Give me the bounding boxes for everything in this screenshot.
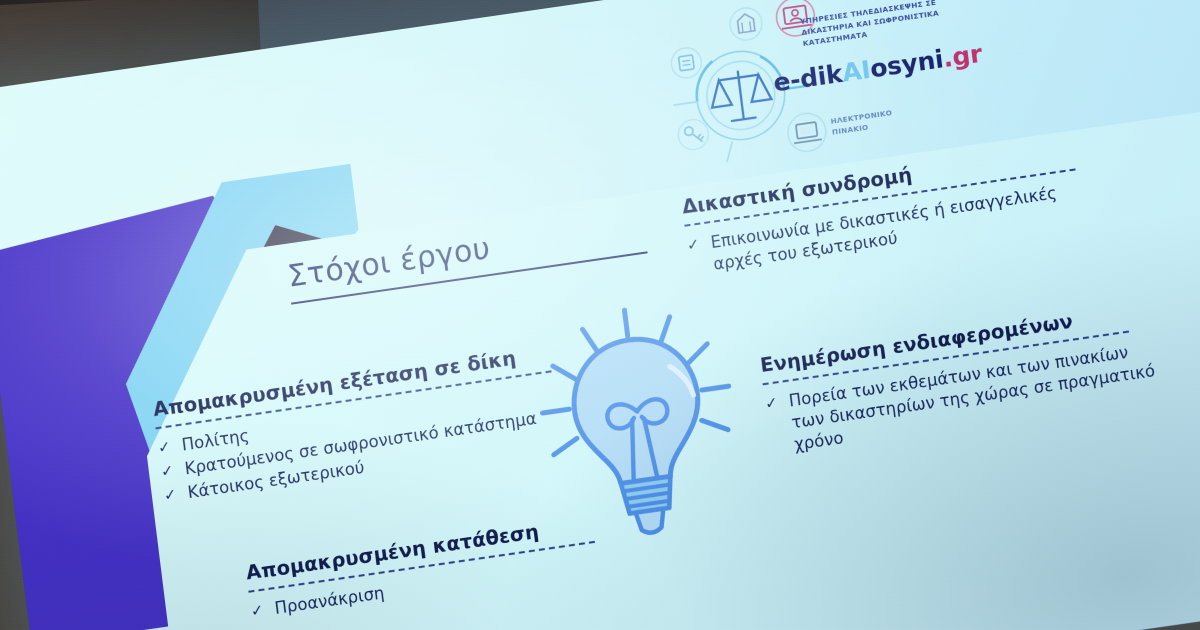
check-icon: ✓ [764, 392, 779, 414]
slide-content: ΥΠΗΡΕΣΙΕΣ ΤΗΛΕΔΙΑΣΚΕΨΗΣ ΣΕ ΔΙΚΑΣΤΗΡΙΑ ΚΑ… [0, 0, 1200, 630]
section-remote-deposition: Απομακρυσμένη κατάθεση ✓ Προανάκριση [245, 505, 649, 626]
page-title: Στόχοι έργου [286, 200, 706, 295]
slide-title-block: Στόχοι έργου [286, 200, 707, 305]
wordmark-ai: AI [840, 55, 872, 88]
courthouse-icon [728, 6, 764, 42]
photo-stage: ΥΠΗΡΕΣΙΕΣ ΤΗΛΕΔΙΑΣΚΕΨΗΣ ΣΕ ΔΙΚΑΣΤΗΡΙΑ ΚΑ… [0, 0, 1200, 630]
check-icon: ✓ [157, 436, 172, 458]
check-icon: ✓ [686, 234, 701, 256]
wordmark-tld: .gr [941, 39, 983, 73]
check-icon: ✓ [163, 484, 178, 506]
projection-screen: ΥΠΗΡΕΣΙΕΣ ΤΗΛΕΔΙΑΣΚΕΨΗΣ ΣΕ ΔΙΚΑΣΤΗΡΙΑ ΚΑ… [0, 0, 1200, 630]
list-item-label: Προανάκριση [273, 582, 385, 620]
scales-of-justice-icon [708, 67, 773, 123]
laptop-icon [786, 111, 828, 154]
presentation-slide: ΥΠΗΡΕΣΙΕΣ ΤΗΛΕΔΙΑΣΚΕΨΗΣ ΣΕ ΔΙΚΑΣΤΗΡΙΑ ΚΑ… [0, 0, 1200, 630]
check-icon: ✓ [250, 600, 265, 622]
check-icon: ✓ [160, 460, 175, 482]
document-icon [670, 46, 703, 80]
section-remote-exam: Απομακρυσμένη εξέταση σε δίκη ✓ Πολίτης … [152, 337, 591, 510]
section-stakeholder-information: Ενημέρωση ενδιαφερομένων ✓ Πορεία των εκ… [759, 297, 1168, 462]
